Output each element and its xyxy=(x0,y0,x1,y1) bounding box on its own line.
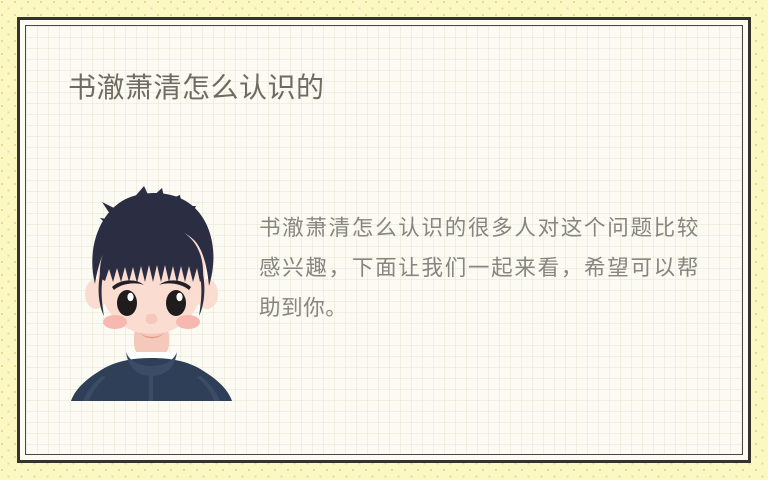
page-title: 书澈萧清怎么认识的 xyxy=(68,71,325,105)
boy-avatar-icon xyxy=(70,186,233,401)
article-content-row: 书澈萧清怎么认识的很多人对这个问题比较感兴趣，下面让我们一起来看，希望可以帮助到… xyxy=(26,186,742,401)
inner-frame-border: 书澈萧清怎么认识的 xyxy=(25,25,743,455)
avatar xyxy=(64,186,239,401)
article-body-text: 书澈萧清怎么认识的很多人对这个问题比较感兴趣，下面让我们一起来看，希望可以帮助到… xyxy=(259,208,699,328)
page-background: 书澈萧清怎么认识的 xyxy=(0,0,768,480)
outer-frame-border: 书澈萧清怎么认识的 xyxy=(17,17,751,463)
